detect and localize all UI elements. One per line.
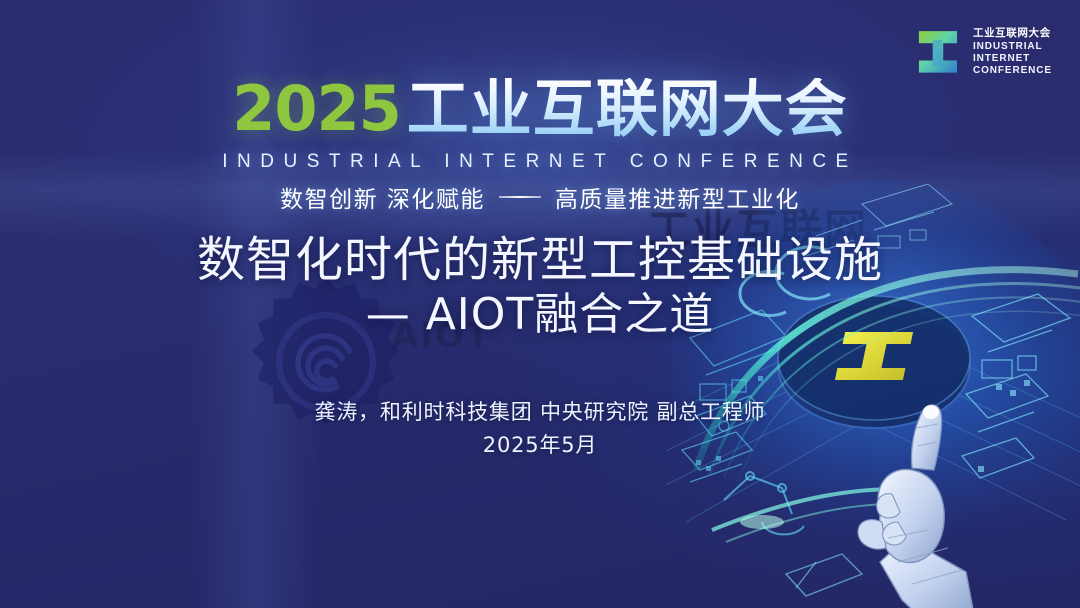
event-logo-row: 2025 工业互联网大会 xyxy=(232,78,848,140)
industrial-gong-mark-icon xyxy=(912,24,964,78)
presenter-date: 2025年5月 xyxy=(0,429,1080,462)
tagline-left: 数智创新 深化赋能 xyxy=(280,180,485,214)
tagline: 数智创新 深化赋能 高质量推进新型工业化 xyxy=(0,180,1080,214)
corner-logo-cn: 工业互联网大会 xyxy=(973,25,1052,40)
corner-logo-en-line3: CONFERENCE xyxy=(973,65,1052,77)
tagline-right: 高质量推进新型工业化 xyxy=(555,180,800,214)
corner-logo-en-line1: INDUSTRIAL xyxy=(973,41,1052,53)
corner-logo: 工业互联网大会 INDUSTRIAL INTERNET CONFERENCE xyxy=(912,24,1052,78)
presenter-byline: 龚涛，和利时科技集团 中央研究院 副总工程师 xyxy=(0,396,1080,429)
presentation-slide: 工业互联网 AIOT xyxy=(0,0,1080,608)
tagline-divider xyxy=(499,196,541,198)
corner-logo-en-line2: INTERNET xyxy=(973,53,1052,65)
event-logo-cn-title: 工业互联网大会 xyxy=(407,78,848,140)
event-logo-year: 2025 xyxy=(232,78,401,140)
deck-title-line1: 数智化时代的新型工控基础设施 xyxy=(0,232,1080,288)
corner-logo-en: INDUSTRIAL INTERNET CONFERENCE xyxy=(973,41,1052,78)
deck-title-line2: — AIOT融合之道 xyxy=(0,288,1080,342)
event-logo-en-title: INDUSTRIAL INTERNET CONFERENCE xyxy=(222,151,857,173)
presenter-block: 龚涛，和利时科技集团 中央研究院 副总工程师 2025年5月 xyxy=(0,396,1080,461)
event-logo: 2025 工业互联网大会 INDUSTRIAL INTERNET CONFERE… xyxy=(0,78,1080,173)
page-title: 数智化时代的新型工控基础设施 — AIOT融合之道 xyxy=(0,232,1080,342)
